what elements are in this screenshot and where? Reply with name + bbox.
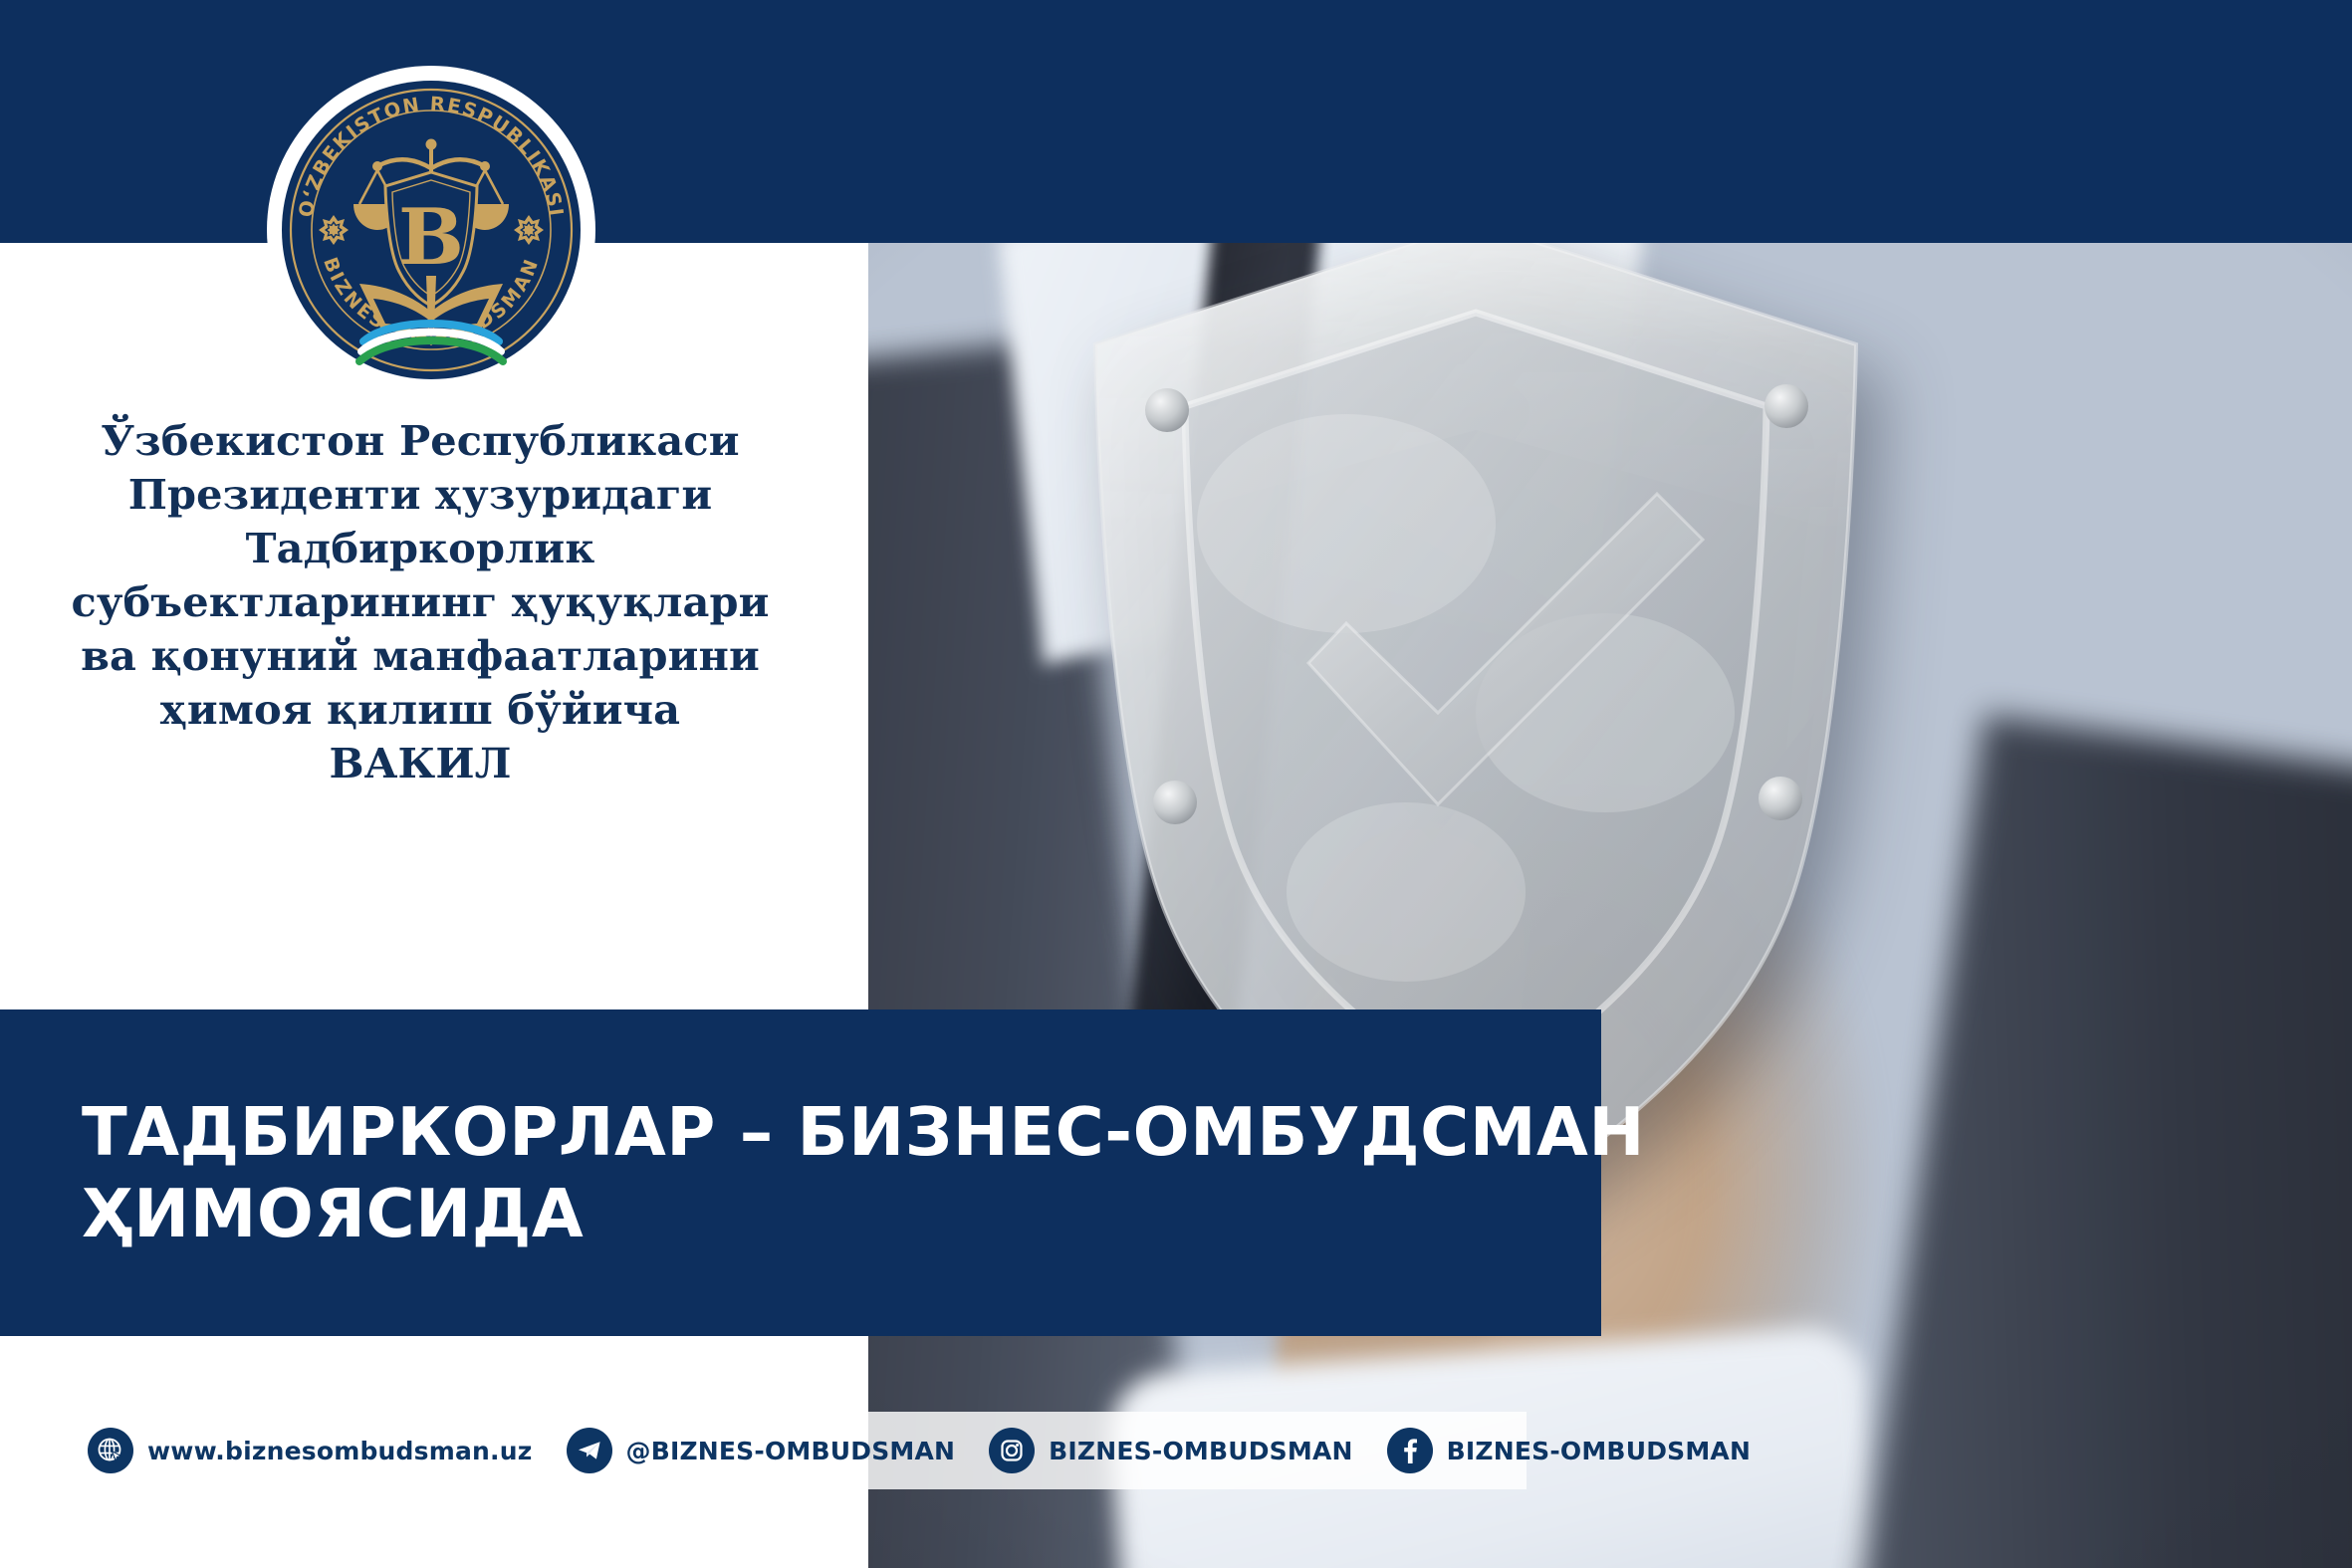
social-item-facebook[interactable]: BIZNES-OMBUDSMAN — [1387, 1428, 1751, 1473]
telegram-icon — [567, 1428, 612, 1473]
social-label-telegram: @BIZNES-OMBUDSMAN — [626, 1437, 956, 1465]
org-line-6: ҳимоя қилиш бўйича — [62, 683, 779, 737]
org-line-4: субъектларининг ҳуқуқлари — [62, 575, 779, 629]
social-label-instagram: BIZNES-OMBUDSMAN — [1049, 1437, 1352, 1465]
social-label-facebook: BIZNES-OMBUDSMAN — [1447, 1437, 1751, 1465]
headline-line-1: ТАДБИРКОРЛАР – БИЗНЕС-ОМБУДСМАН — [82, 1091, 1645, 1173]
headline-line-2: ҲИМОЯСИДА — [82, 1173, 1645, 1254]
headline-text: ТАДБИРКОРЛАР – БИЗНЕС-ОМБУДСМАН ҲИМОЯСИД… — [0, 1091, 1685, 1254]
instagram-icon — [989, 1428, 1035, 1473]
svg-text:B: B — [398, 192, 464, 283]
org-line-2: Президенти ҳузуридаги — [62, 468, 779, 522]
org-line-5: ва қонуний манфаатларини — [62, 629, 779, 683]
headline-banner: ТАДБИРКОРЛАР – БИЗНЕС-ОМБУДСМАН ҲИМОЯСИД… — [0, 1009, 1601, 1336]
org-line-1: Ўзбекистон Республикаси — [62, 414, 779, 468]
hero-photo — [868, 235, 2352, 1568]
org-line-3: Тадбиркорлик — [62, 522, 779, 575]
social-item-telegram[interactable]: @BIZNES-OMBUDSMAN — [567, 1428, 956, 1473]
facebook-icon — [1387, 1428, 1433, 1473]
biznes-ombudsman-seal-icon: O‘ZBEKISTON RESPUBLIKASI BIZNES - OMBUDS… — [282, 81, 581, 379]
social-label-website: www.biznesombudsman.uz — [147, 1437, 533, 1465]
globe-cursor-icon — [88, 1428, 133, 1473]
social-footer-bar: www.biznesombudsman.uz @BIZNES-OMBUDSMAN… — [0, 1412, 1527, 1489]
poster-canvas: O‘ZBEKISTON RESPUBLIKASI BIZNES - OMBUDS… — [0, 0, 2352, 1568]
organization-title: Ўзбекистон Республикаси Президенти ҳузур… — [62, 414, 779, 790]
org-line-7: ВАКИЛ — [62, 737, 779, 790]
social-item-instagram[interactable]: BIZNES-OMBUDSMAN — [989, 1428, 1352, 1473]
social-item-website[interactable]: www.biznesombudsman.uz — [88, 1428, 533, 1473]
